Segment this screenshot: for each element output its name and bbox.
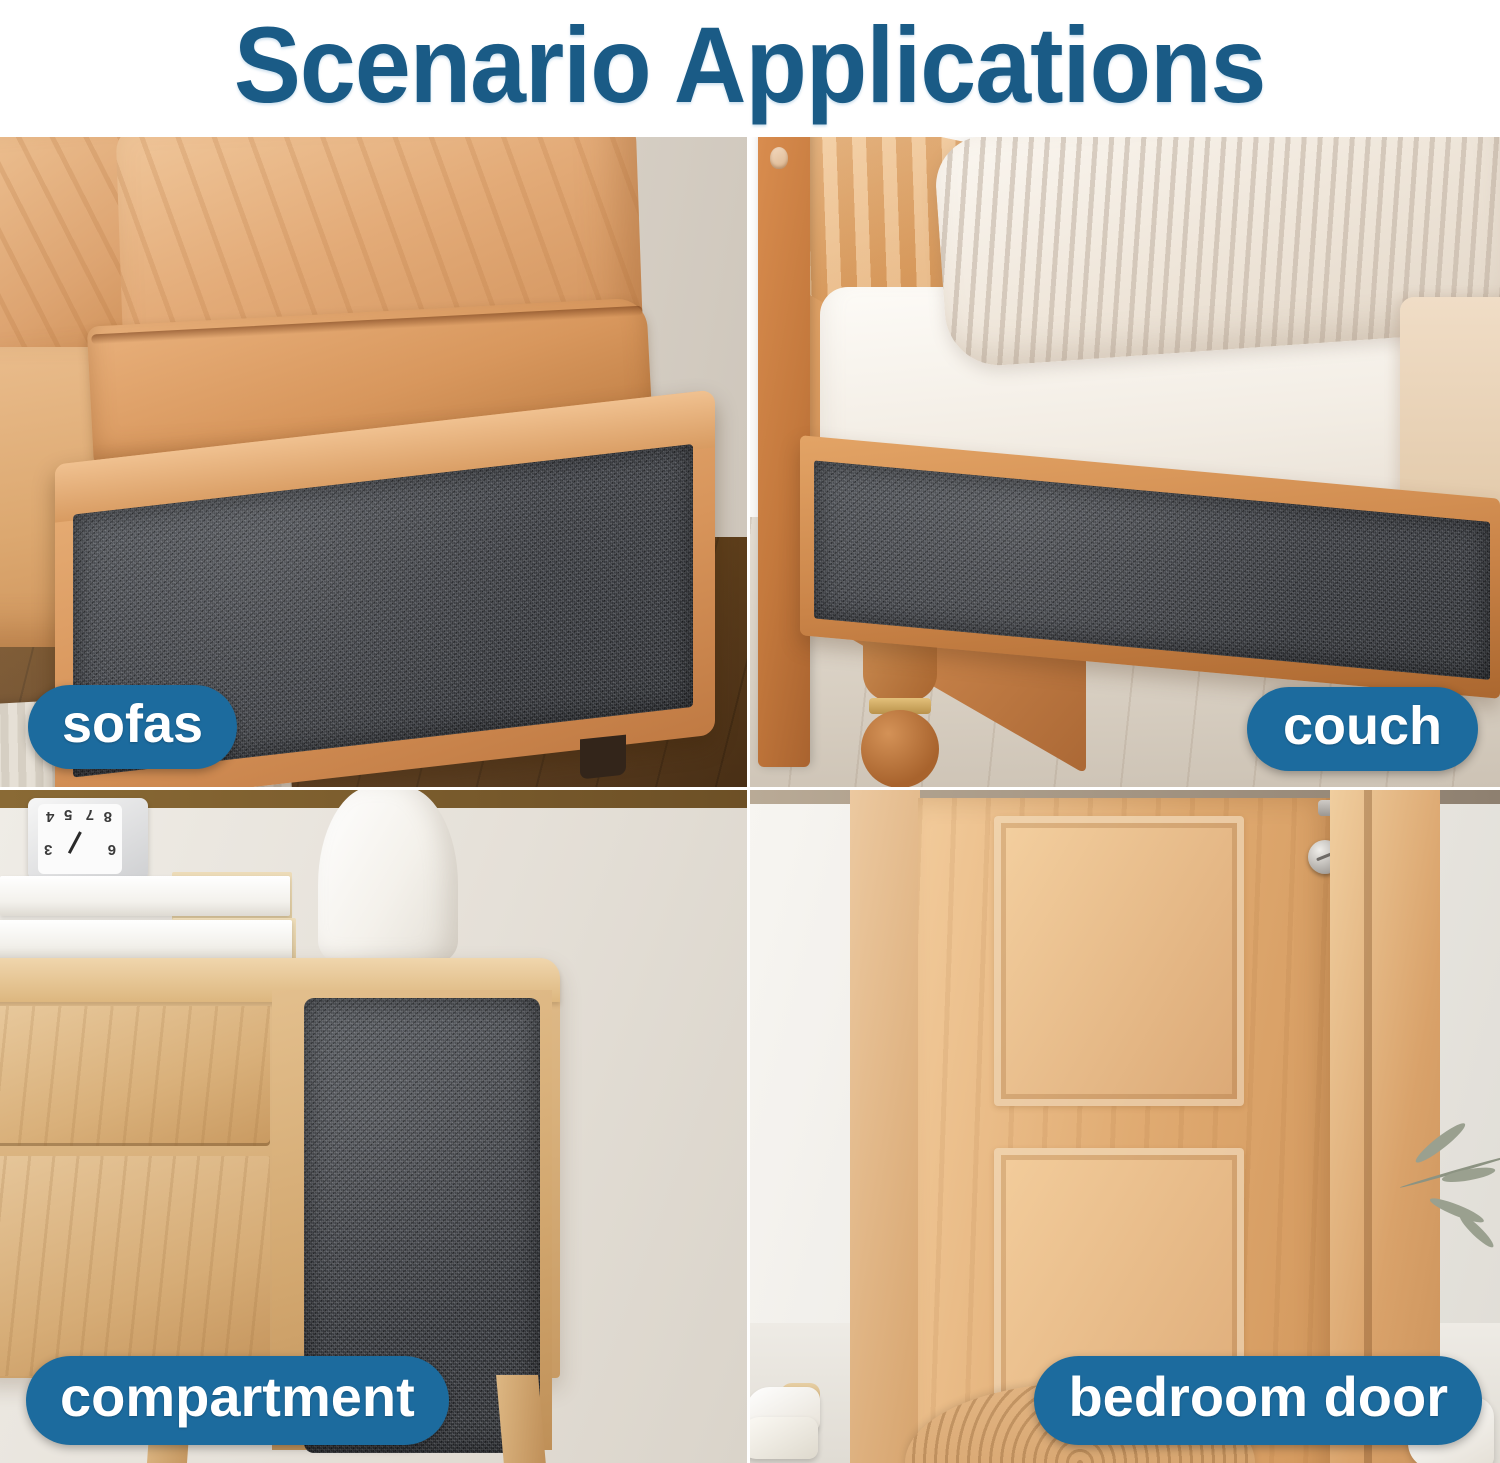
nightstand-leg-right xyxy=(496,1375,546,1463)
book-top xyxy=(0,876,290,916)
label-badge-sofas: sofas xyxy=(28,685,237,769)
book-bottom xyxy=(0,920,292,962)
clock-numeral-7: 7 xyxy=(86,806,94,823)
scenario-grid: sofas couch xyxy=(0,137,1500,1463)
clock-numeral-4: 4 xyxy=(46,808,54,825)
label-badge-bedroom-door: bedroom door xyxy=(1034,1356,1482,1445)
clock-numeral-8: 8 xyxy=(104,808,112,825)
scenario-panel-compartment[interactable]: 6 3 8 7 5 4 xyxy=(0,790,750,1463)
page-title: Scenario Applications xyxy=(234,11,1266,127)
shoe-right xyxy=(750,1417,818,1459)
bed-leg xyxy=(855,632,945,787)
plant-leaf xyxy=(1412,1119,1468,1167)
door-jamb-left xyxy=(850,790,920,1463)
clock-numeral-6: 6 xyxy=(108,841,116,858)
ceramic-vase xyxy=(318,790,458,966)
clock-hand xyxy=(68,831,82,854)
title-bar: Scenario Applications xyxy=(0,0,1500,137)
door-panel-upper xyxy=(994,816,1244,1106)
label-badge-compartment: compartment xyxy=(26,1356,449,1445)
scenario-panel-sofas[interactable]: sofas xyxy=(0,137,750,790)
clock-numeral-3: 3 xyxy=(44,841,52,858)
scenario-panel-couch[interactable]: couch xyxy=(750,137,1500,790)
scenario-panel-bedroom-door[interactable]: bedroom door xyxy=(750,790,1500,1463)
shoes-pair xyxy=(750,1365,842,1457)
sofa-leg-right xyxy=(580,735,626,780)
plant-branch xyxy=(1360,1090,1500,1300)
clock-face: 6 3 8 7 5 4 xyxy=(38,804,122,874)
clock-numeral-5: 5 xyxy=(64,806,72,823)
nightstand-drawer-upper xyxy=(0,1006,270,1146)
nightstand-drawer-lower xyxy=(0,1156,270,1376)
alarm-clock: 6 3 8 7 5 4 xyxy=(28,798,148,880)
plant-leaf xyxy=(1428,1194,1486,1226)
product-scenario-infographic: Scenario Applications sofas xyxy=(0,0,1500,1463)
label-badge-couch: couch xyxy=(1247,687,1478,771)
bed-leg-ball xyxy=(861,710,939,787)
